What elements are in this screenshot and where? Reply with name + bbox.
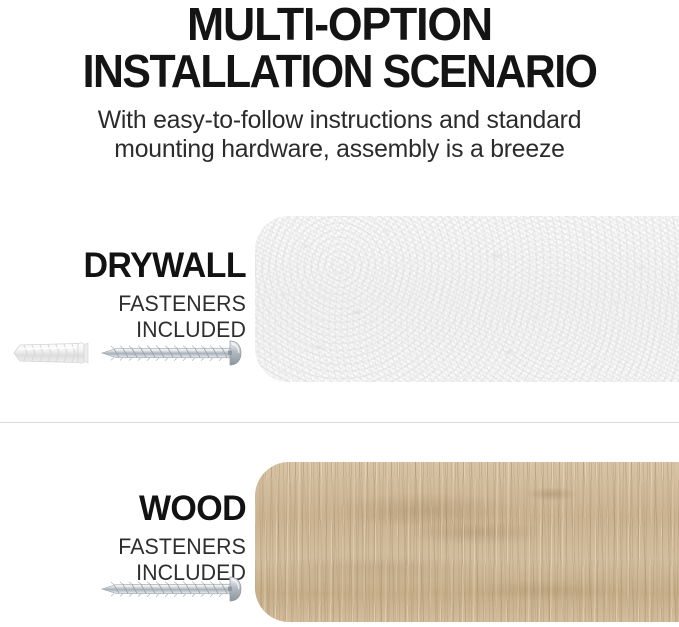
- drywall-hardware-group: [4, 332, 246, 374]
- drywall-texture-panel: [255, 216, 679, 382]
- drywall-title: DRYWALL: [7, 248, 246, 284]
- wood-title: WOOD: [7, 491, 246, 527]
- page-subtitle-line-2: mounting hardware, assembly is a breeze: [3, 135, 675, 164]
- wood-hardware-group: [98, 568, 246, 610]
- installation-scenario-infographic: MULTI-OPTION INSTALLATION SCENARIO With …: [0, 0, 679, 627]
- page-title-line-1: MULTI-OPTION: [10, 0, 669, 46]
- drywall-label-block: DRYWALL FASTENERS INCLUDED: [0, 248, 246, 343]
- page-title-line-2: INSTALLATION SCENARIO: [24, 46, 655, 94]
- page-subtitle-line-1: With easy-to-follow instructions and sta…: [3, 94, 675, 135]
- screw-icon: [102, 577, 241, 601]
- header: MULTI-OPTION INSTALLATION SCENARIO With …: [0, 0, 679, 164]
- screw-icon: [102, 341, 241, 365]
- wood-grain-panel: [255, 462, 679, 622]
- section-divider: [0, 422, 679, 423]
- drywall-anchor-icon: [14, 343, 88, 363]
